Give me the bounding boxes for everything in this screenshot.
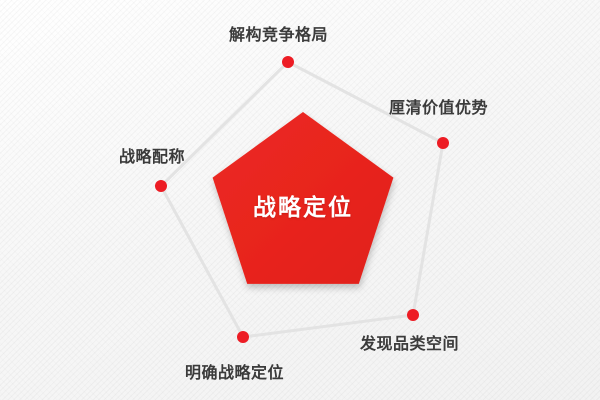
vertex-dot-left[interactable] — [155, 180, 167, 192]
vertex-dot-right[interactable] — [437, 137, 449, 149]
center-pentagon-label: 战略定位 — [253, 196, 353, 219]
vertex-label-bottom-left: 明确战略定位 — [185, 366, 284, 382]
vertex-label-bottom-right: 发现品类空间 — [360, 337, 459, 353]
vertex-label-right: 厘清价值优势 — [389, 101, 488, 117]
vertex-label-top: 解构竞争格局 — [229, 28, 328, 44]
diagram-canvas: 解构竞争格局 厘清价值优势 发现品类空间 明确战略定位 战略配称 战略定位 — [0, 0, 600, 400]
vertex-dot-bottom-left[interactable] — [237, 331, 249, 343]
vertex-label-left: 战略配称 — [119, 150, 185, 166]
vertex-dot-top[interactable] — [282, 56, 294, 68]
vertex-dot-bottom-right[interactable] — [407, 309, 419, 321]
